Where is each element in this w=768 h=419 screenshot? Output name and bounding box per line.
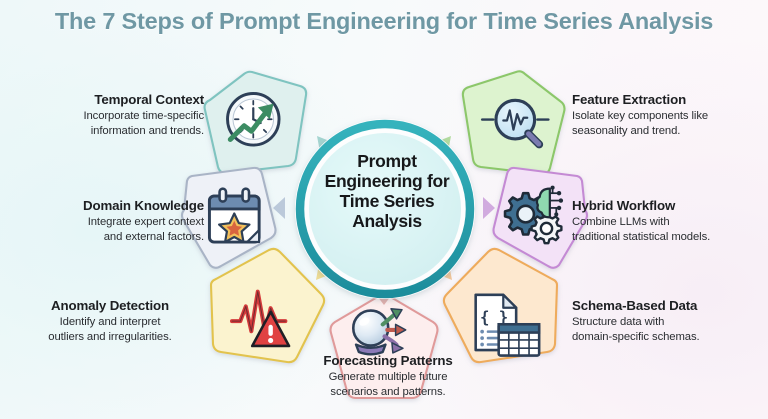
step-desc-line-1: Combine LLMs with bbox=[572, 215, 764, 229]
step-label-temporal-context[interactable]: Temporal Context Incorporate time-specif… bbox=[8, 92, 204, 138]
step-label-forecasting-patterns[interactable]: Forecasting Patterns Generate multiple f… bbox=[300, 353, 476, 399]
step-desc-line-2: domain-specific schemas. bbox=[572, 330, 764, 344]
step-desc-line-1: Structure data with bbox=[572, 315, 764, 329]
step-desc-line-2: information and trends. bbox=[8, 124, 204, 138]
cycle-arrow-hybrid-to-schema bbox=[483, 197, 495, 219]
step-desc-line-2: traditional statistical models. bbox=[572, 230, 764, 244]
step-label-anomaly-detection[interactable]: Anomaly Detection Identify and interpret… bbox=[8, 298, 212, 344]
step-title: Anomaly Detection bbox=[8, 298, 212, 313]
step-desc-line-2: seasonality and trend. bbox=[572, 124, 764, 138]
step-desc-line-2: scenarios and patterns. bbox=[300, 385, 476, 399]
clock-trend-up-icon bbox=[228, 94, 280, 146]
step-title: Forecasting Patterns bbox=[300, 353, 476, 368]
step-label-schema-based-data[interactable]: Schema-Based Data Structure data with do… bbox=[572, 298, 764, 344]
step-desc-line-1: Integrate expert context bbox=[8, 215, 204, 229]
calendar-star-icon bbox=[209, 189, 259, 242]
step-title: Schema-Based Data bbox=[572, 298, 764, 313]
step-desc-line-2: and external factors. bbox=[8, 230, 204, 244]
step-desc-line-1: Identify and interpret bbox=[8, 315, 212, 329]
step-desc-line-1: Incorporate time-specific bbox=[8, 109, 204, 123]
cycle-arrow-domain-to-temporal bbox=[273, 197, 285, 219]
center-line-3: Time Series bbox=[312, 192, 462, 212]
step-label-domain-knowledge[interactable]: Domain Knowledge Integrate expert contex… bbox=[8, 198, 204, 244]
center-line-4: Analysis bbox=[312, 212, 462, 232]
step-title: Hybrid Workflow bbox=[572, 198, 764, 213]
crystal-ball-arrows-icon bbox=[353, 309, 405, 355]
step-title: Domain Knowledge bbox=[8, 198, 204, 213]
step-desc-line-2: outliers and irregularities. bbox=[8, 330, 212, 344]
step-title: Temporal Context bbox=[8, 92, 204, 107]
center-label: Prompt Engineering for Time Series Analy… bbox=[312, 152, 462, 232]
step-label-hybrid-workflow[interactable]: Hybrid Workflow Combine LLMs with tradit… bbox=[572, 198, 764, 244]
step-desc-line-1: Isolate key components like bbox=[572, 109, 764, 123]
step-desc-line-1: Generate multiple future bbox=[300, 370, 476, 384]
infographic-canvas: The 7 Steps of Prompt Engineering for Ti… bbox=[0, 0, 768, 419]
step-title: Feature Extraction bbox=[572, 92, 764, 107]
center-line-2: Engineering for bbox=[312, 172, 462, 192]
center-line-1: Prompt bbox=[312, 152, 462, 172]
step-label-feature-extraction[interactable]: Feature Extraction Isolate key component… bbox=[572, 92, 764, 138]
